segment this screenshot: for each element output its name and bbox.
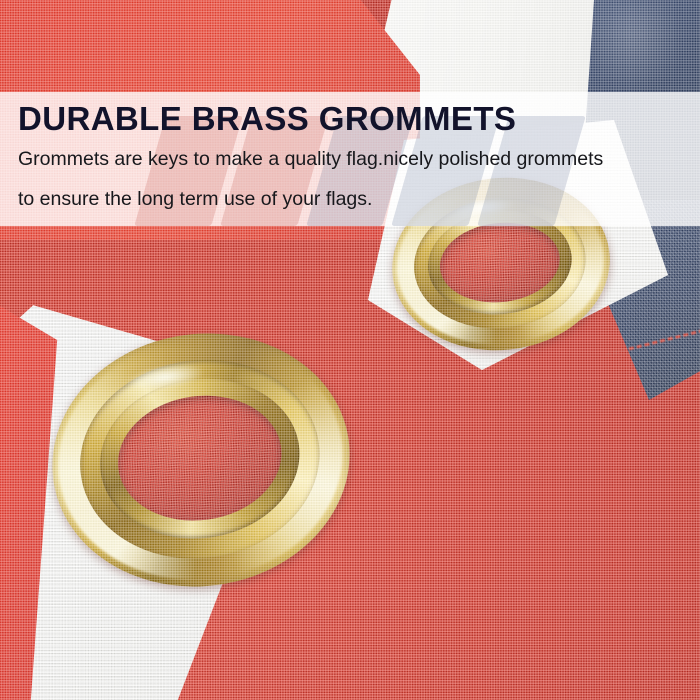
product-image: DURABLE BRASS GROMMETS Grommets are keys…	[0, 0, 700, 700]
headline: DURABLE BRASS GROMMETS	[18, 98, 682, 140]
subline-1: Grommets are keys to make a quality flag…	[18, 139, 682, 179]
subline-2: to ensure the long term use of your flag…	[18, 179, 682, 219]
caption-banner: DURABLE BRASS GROMMETS Grommets are keys…	[0, 92, 700, 226]
caption-text-block: DURABLE BRASS GROMMETS Grommets are keys…	[0, 92, 700, 226]
